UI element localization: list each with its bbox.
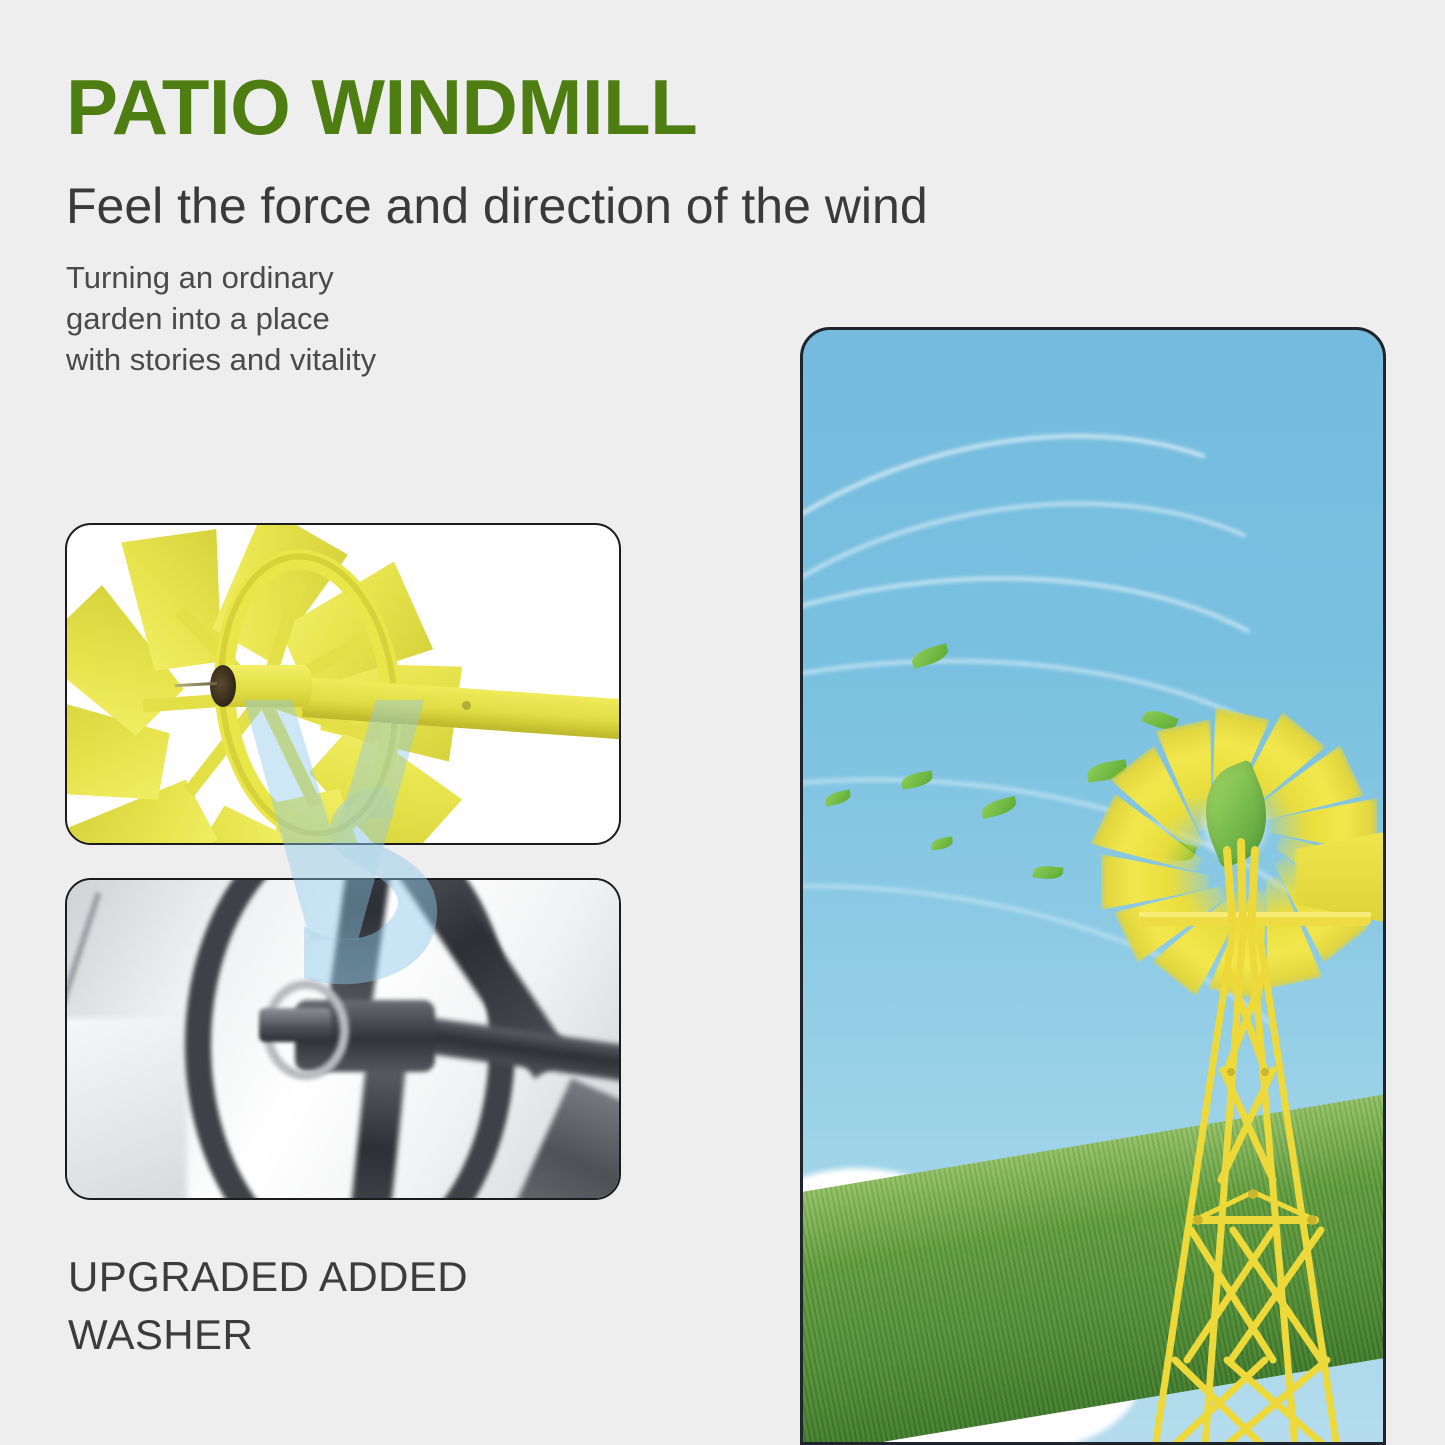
blurb-line-1: Turning an ordinary xyxy=(66,258,376,299)
windmill-head-photo xyxy=(67,525,619,843)
product-banner: PATIO WINDMILL Feel the force and direct… xyxy=(0,0,1445,1445)
feature-caption: UPGRADED ADDED WASHER xyxy=(68,1248,468,1364)
windmill-tower xyxy=(803,330,1386,1445)
caption-line-1: UPGRADED ADDED xyxy=(68,1248,468,1306)
page-subtitle: Feel the force and direction of the wind xyxy=(66,178,928,234)
rim-segment-right xyxy=(510,1078,621,1200)
page-title: PATIO WINDMILL xyxy=(66,68,697,146)
scene-sky xyxy=(803,330,1383,1442)
intro-blurb: Turning an ordinary garden into a place … xyxy=(66,258,376,381)
photo-card-washer-detail xyxy=(65,878,621,1200)
tail-arm-bolt xyxy=(462,701,471,710)
background-strut xyxy=(65,892,101,1008)
blurb-line-2: garden into a place xyxy=(66,299,376,340)
washer-detail-photo xyxy=(67,880,619,1198)
photo-card-windmill-head xyxy=(65,523,621,845)
shaft-dark xyxy=(259,1008,331,1042)
caption-line-2: WASHER xyxy=(68,1306,468,1364)
hub-cap xyxy=(210,665,236,707)
background-panel xyxy=(65,1018,187,1200)
lifestyle-scene-panel xyxy=(800,327,1386,1445)
blurb-line-3: with stories and vitality xyxy=(66,340,376,381)
